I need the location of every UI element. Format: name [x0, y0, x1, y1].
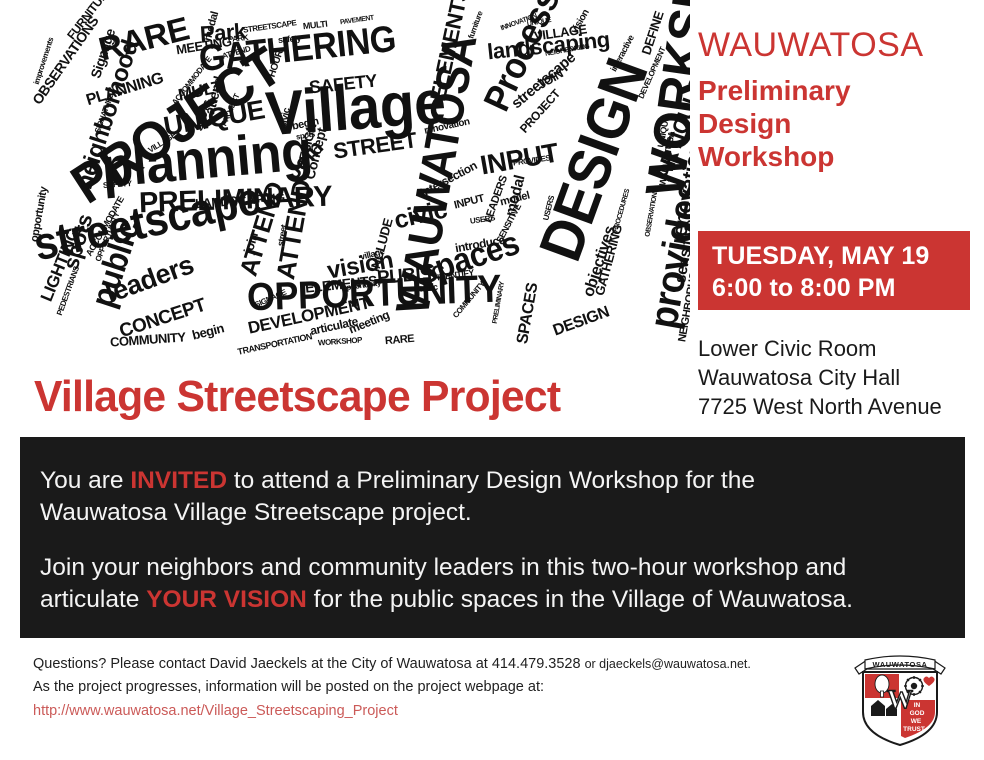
invite-text-after: to attend a Preliminary Design Workshop …: [227, 467, 755, 494]
join-text-line2-before: articulate: [40, 586, 146, 613]
word-cloud-word: DESIGN: [552, 305, 611, 337]
invitation-paragraph-1: You are INVITED to attend a Preliminary …: [40, 465, 943, 530]
venue-address: 7725 West North Avenue: [698, 392, 978, 421]
workshop-title-line-1: Preliminary: [698, 74, 978, 107]
invitation-paragraph-2: Join your neighbors and community leader…: [40, 552, 943, 617]
join-text-line2-after: for the public spaces in the Village of …: [307, 586, 853, 613]
word-cloud-word: public: [414, 284, 438, 294]
footer-contact-email: or djaeckels@wauwatosa.net.: [585, 657, 751, 671]
invite-text-line2: Wauwatosa Village Streetscape project.: [40, 499, 472, 526]
venue-block: Lower Civic Room Wauwatosa City Hall 772…: [698, 334, 978, 421]
word-cloud-word: TRANSPORTATION: [237, 333, 313, 356]
footer-contact-text: Questions? Please contact David Jaeckels…: [33, 656, 585, 672]
join-text-line1: Join your neighbors and community leader…: [40, 554, 846, 581]
event-time: 6:00 to 8:00 PM: [712, 272, 970, 304]
word-cloud-word: furniture: [468, 11, 484, 40]
word-cloud-image: PROJECTplanningVillageWORKSHOPDESIGNWAUW…: [0, 0, 690, 362]
workshop-title-line-3: Workshop: [698, 140, 978, 173]
seal-monogram: W: [887, 685, 913, 714]
word-cloud-word: COMMUNITY: [110, 332, 186, 348]
word-cloud-word: safety: [278, 35, 302, 44]
word-cloud-word: SAFETY: [103, 181, 132, 190]
word-cloud-word: begin: [191, 323, 225, 341]
word-cloud-word: WORKSHOP: [318, 337, 362, 347]
workshop-title: Preliminary Design Workshop: [698, 74, 978, 173]
footer: Questions? Please contact David Jaeckels…: [33, 653, 823, 723]
seal-motto-line-4: TRUST: [903, 726, 925, 733]
invited-highlight: INVITED: [130, 467, 227, 494]
footer-contact-line: Questions? Please contact David Jaeckels…: [33, 653, 823, 676]
word-cloud-word: SPACES: [516, 282, 540, 345]
word-cloud-word: RARE: [385, 335, 415, 347]
invite-text-before: You are: [40, 467, 130, 494]
project-title: Village Streetscape Project: [34, 372, 560, 422]
invitation-block: You are INVITED to attend a Preliminary …: [20, 437, 965, 638]
city-seal-svg: WAUWATOSA: [845, 650, 955, 750]
event-date: TUESDAY, MAY 19: [712, 240, 970, 272]
city-name: WAUWATOSA: [698, 28, 978, 64]
venue-building: Wauwatosa City Hall: [698, 363, 978, 392]
project-webpage-link[interactable]: http://www.wauwatosa.net/Village_Streets…: [33, 700, 398, 723]
venue-room: Lower Civic Room: [698, 334, 978, 363]
header-column: WAUWATOSA Preliminary Design Workshop: [698, 28, 978, 173]
seal-motto-line-1: IN: [914, 702, 921, 709]
seal-motto-line-3: WE: [911, 718, 922, 725]
city-seal-logo: WAUWATOSA: [845, 650, 955, 750]
footer-progress-line: As the project progresses, information w…: [33, 676, 823, 699]
word-cloud-canvas: PROJECTplanningVillageWORKSHOPDESIGNWAUW…: [0, 0, 690, 362]
seal-banner-text: WAUWATOSA: [872, 660, 927, 669]
datetime-banner: TUESDAY, MAY 19 6:00 to 8:00 PM: [698, 231, 970, 310]
your-vision-highlight: YOUR VISION: [146, 586, 307, 613]
workshop-title-line-2: Design: [698, 107, 978, 140]
